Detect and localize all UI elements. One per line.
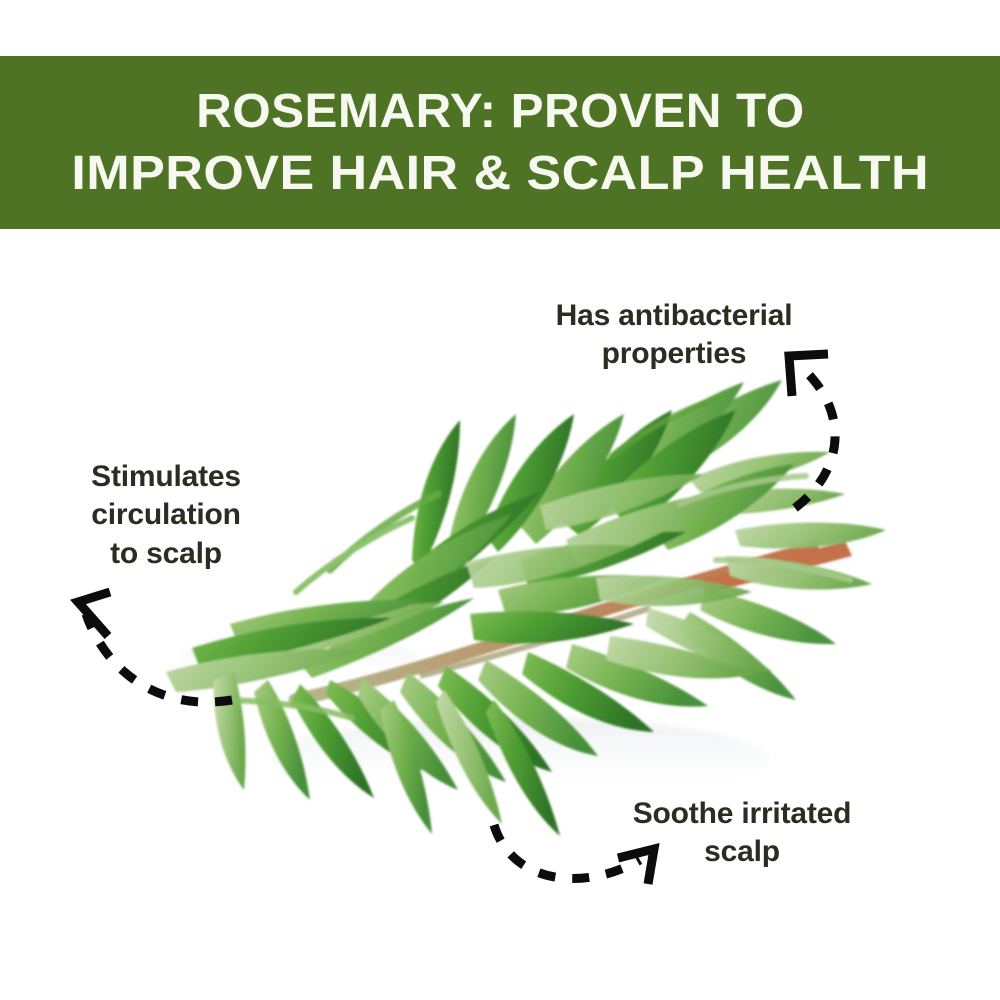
rosemary-sprig-image: [0, 0, 1000, 1000]
infographic-canvas: ROSEMARY: PROVEN TO IMPROVE HAIR & SCALP…: [0, 0, 1000, 1000]
sprig-leaves: [166, 380, 886, 836]
